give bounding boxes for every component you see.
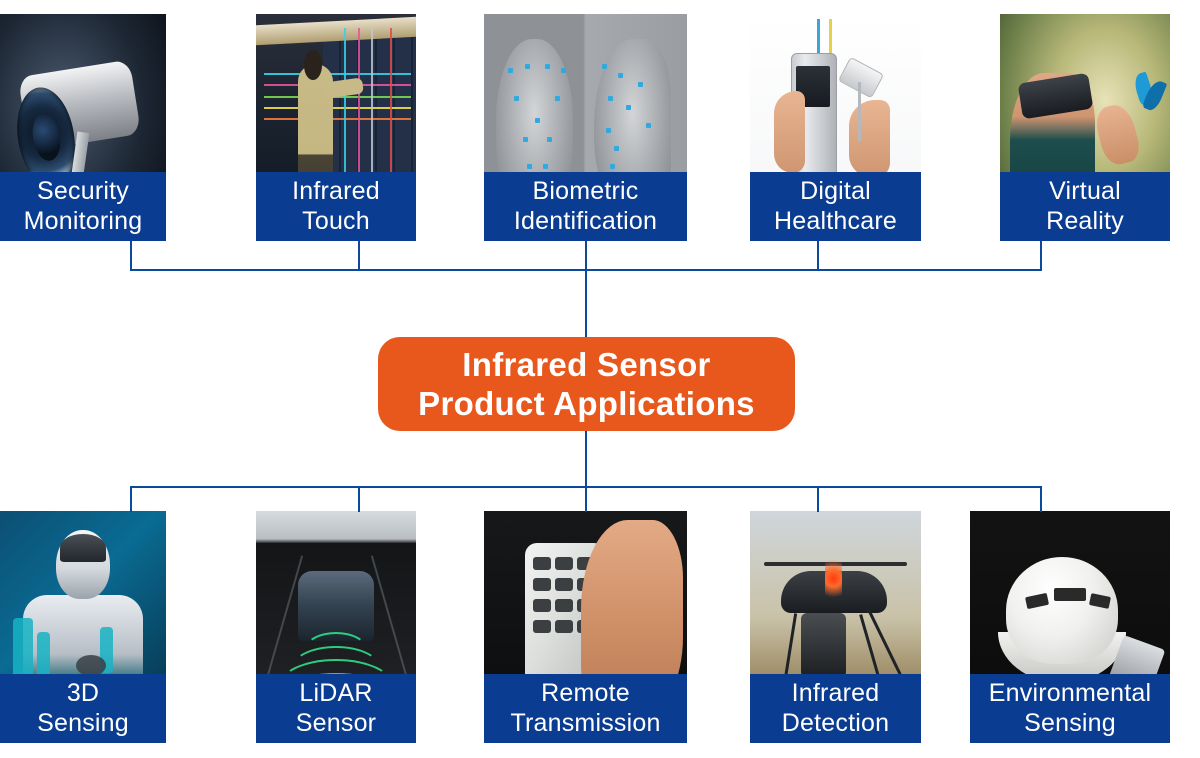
top-tile-label-biometric-identification: Biometric Identification — [484, 172, 687, 241]
connector-top-rail-to-center — [585, 269, 587, 339]
top-tile-label-security-monitoring: Security Monitoring — [0, 172, 166, 241]
connector-top-tile-1-drop — [130, 241, 132, 271]
bottom-tile-label-environmental-sensing: Environmental Sensing — [970, 674, 1170, 743]
connector-bottom-tile-1-drop — [130, 486, 132, 512]
top-tile-label-digital-healthcare: Digital Healthcare — [750, 172, 921, 241]
bottom-tile-infrared-detection[interactable]: Infrared Detection — [750, 511, 921, 743]
bottom-tile-label-3d-sensing: 3D Sensing — [0, 674, 166, 743]
connector-top-tile-4-drop — [817, 241, 819, 271]
connector-bottom-tile-5-drop — [1040, 486, 1042, 512]
top-tile-infrared-touch[interactable]: Infrared Touch — [256, 14, 416, 241]
top-tile-security-monitoring[interactable]: Security Monitoring — [0, 14, 166, 241]
connector-center-to-bottom-rail — [585, 430, 587, 488]
center-node[interactable]: Infrared Sensor Product Applications — [378, 337, 795, 431]
connector-bottom-tile-4-drop — [817, 486, 819, 512]
bottom-tile-environmental-sensing[interactable]: Environmental Sensing — [970, 511, 1170, 743]
center-node-label: Infrared Sensor Product Applications — [418, 345, 755, 423]
bottom-tile-3d-sensing[interactable]: 3D Sensing — [0, 511, 166, 743]
connector-top-tile-5-drop — [1040, 241, 1042, 271]
top-tile-digital-healthcare[interactable]: Digital Healthcare — [750, 14, 921, 241]
bottom-tile-remote-transmission[interactable]: Remote Transmission — [484, 511, 687, 743]
top-tile-label-infrared-touch: Infrared Touch — [256, 172, 416, 241]
connector-bottom-tile-3-drop — [585, 486, 587, 512]
top-tile-biometric-identification[interactable]: Biometric Identification — [484, 14, 687, 241]
bottom-tile-label-infrared-detection: Infrared Detection — [750, 674, 921, 743]
connector-bottom-tile-2-drop — [358, 486, 360, 512]
bottom-tile-lidar-sensor[interactable]: LiDAR Sensor — [256, 511, 416, 743]
infrared-sensor-applications-diagram: Security Monitoring Infrared Touch — [0, 0, 1200, 758]
top-tile-label-virtual-reality: Virtual Reality — [1000, 172, 1170, 241]
top-tile-virtual-reality[interactable]: Virtual Reality — [1000, 14, 1170, 241]
connector-top-tile-3-drop — [585, 241, 587, 271]
connector-top-tile-2-drop — [358, 241, 360, 271]
bottom-tile-label-lidar-sensor: LiDAR Sensor — [256, 674, 416, 743]
bottom-tile-label-remote-transmission: Remote Transmission — [484, 674, 687, 743]
